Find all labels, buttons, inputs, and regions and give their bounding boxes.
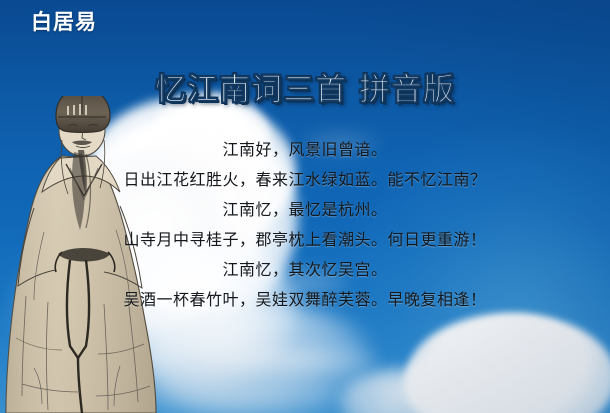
author-label: 白居易: [31, 12, 97, 33]
poem-line: 吴酒一杯春竹叶，吴娃双舞醉芙蓉。早晚复相逢！: [0, 292, 610, 308]
poem-line: 日出江花红胜火，春来江水绿如蓝。能不忆江南？: [0, 172, 610, 188]
poem-line: 江南好，风景旧曾谙。: [0, 142, 610, 158]
poem-line: 江南忆，其次忆吴宫。: [0, 262, 610, 278]
poem-line: 江南忆，最忆是杭州。: [0, 202, 610, 218]
poem-poster: 白居易 忆江南词三首 拼音版 江南好，风景旧曾谙。 日出江花红胜火，春来江水绿如…: [0, 0, 610, 413]
poem-line: 山寺月中寻桂子，郡亭枕上看潮头。何日更重游！: [0, 232, 610, 248]
page-title: 忆江南词三首 拼音版: [0, 72, 610, 109]
poem-body: 江南好，风景旧曾谙。 日出江花红胜火，春来江水绿如蓝。能不忆江南？ 江南忆，最忆…: [0, 142, 610, 308]
